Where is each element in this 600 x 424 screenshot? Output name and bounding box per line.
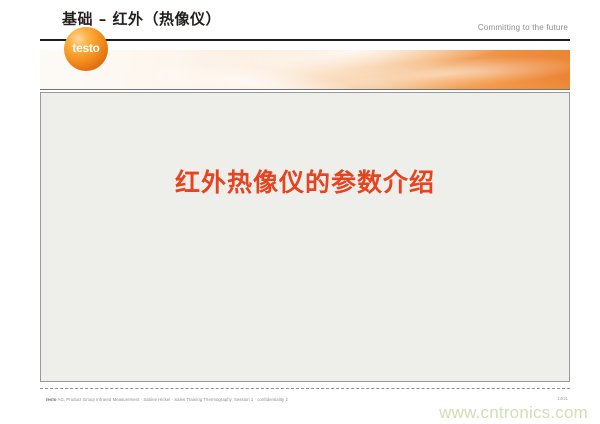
footer-divider: [40, 388, 570, 389]
title-band: [40, 50, 570, 90]
slide: Committing to the future testo 基础 – 红外（热…: [0, 0, 600, 424]
logo-wordmark: testo: [64, 41, 108, 55]
title-band-divider: [40, 89, 570, 90]
site-watermark: www.cntronics.com: [439, 403, 588, 423]
band-wisp-decoration: [188, 50, 522, 90]
content-panel: 红外热像仪的参数介绍: [40, 92, 570, 382]
band-wisp-decoration: [289, 50, 570, 90]
footer-company: testo: [46, 397, 57, 402]
header-tagline: Committing to the future: [478, 23, 568, 32]
slide-title: 基础 – 红外（热像仪）: [62, 8, 221, 29]
band-wisp-decoration: [139, 56, 361, 90]
main-heading: 红外热像仪的参数介绍: [41, 163, 569, 199]
header-divider: [40, 39, 570, 41]
footer-credit: testo AG, Product Group Infrared Measure…: [46, 397, 516, 402]
testo-logo: testo: [64, 27, 108, 71]
footer-credit-text: AG, Product Group Infrared Measurement ·…: [58, 397, 288, 402]
page-number: 14/21: [558, 396, 568, 401]
band-wisp-decoration: [369, 66, 570, 90]
